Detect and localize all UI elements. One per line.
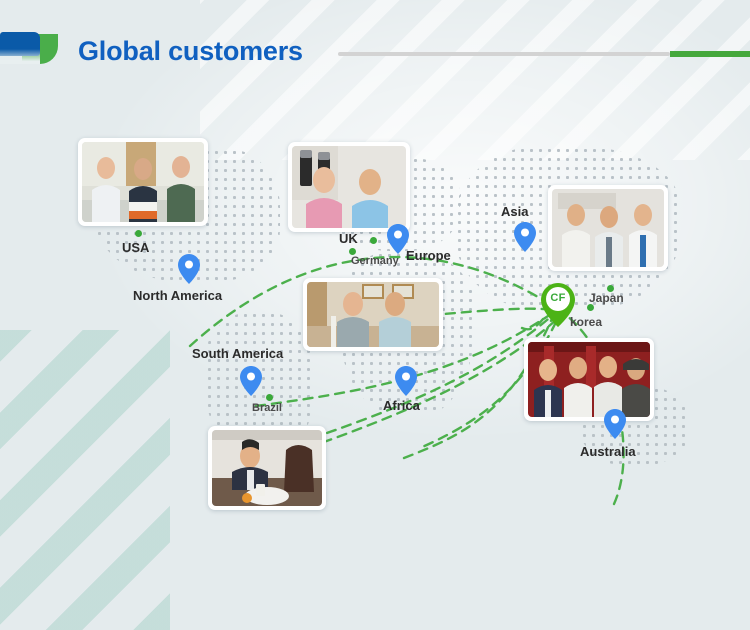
pin-asia[interactable] xyxy=(514,222,536,252)
photo-image xyxy=(528,342,650,417)
photo-image xyxy=(82,142,204,222)
photo-image xyxy=(212,430,322,506)
photo-europe-two-men xyxy=(288,142,410,232)
dot-germany xyxy=(349,248,356,255)
photo-center-two-men xyxy=(303,278,443,351)
photo-image xyxy=(552,189,664,267)
dot-korea xyxy=(587,304,594,311)
region-label-europe: Europe xyxy=(406,248,451,263)
photo-usa-three-men xyxy=(78,138,208,226)
dot-usa xyxy=(135,230,142,237)
region-label-south-america: South America xyxy=(192,346,283,361)
city-label-germany: Germany xyxy=(351,255,399,267)
city-label-brazil: Brazil xyxy=(252,402,282,414)
header-divider-gray xyxy=(338,52,670,56)
region-label-north-america: North America xyxy=(133,288,222,303)
photo-image xyxy=(292,146,406,228)
company-logo xyxy=(0,32,58,64)
city-label-usa: USA xyxy=(122,240,149,255)
pin-africa[interactable] xyxy=(395,366,417,396)
region-label-africa: Africa xyxy=(383,398,420,413)
city-label-uk: UK xyxy=(339,231,358,246)
photo-asia-three-men xyxy=(548,185,668,271)
region-label-australia: Australia xyxy=(580,444,636,459)
page-title: Global customers xyxy=(78,36,303,67)
pin-south-america[interactable] xyxy=(240,366,262,396)
photo-meeting-table xyxy=(208,426,326,510)
logo-fade-overlay xyxy=(0,49,40,64)
photo-image xyxy=(307,282,439,347)
dot-brazil xyxy=(266,394,273,401)
page-header: Global customers xyxy=(0,0,750,96)
pin-australia[interactable] xyxy=(604,409,626,439)
dot-uk xyxy=(370,237,377,244)
photo-korea-four-men xyxy=(524,338,654,421)
header-divider-green xyxy=(670,51,750,57)
cf-hub-label: CF xyxy=(541,283,575,313)
region-label-asia: Asia xyxy=(501,204,528,219)
cf-hub-marker[interactable]: CF xyxy=(541,283,575,327)
pin-north-america[interactable] xyxy=(178,254,200,284)
city-label-japan: Japan xyxy=(589,291,624,305)
world-map: USA UK Germany Brazil Japan korea North … xyxy=(0,96,750,600)
